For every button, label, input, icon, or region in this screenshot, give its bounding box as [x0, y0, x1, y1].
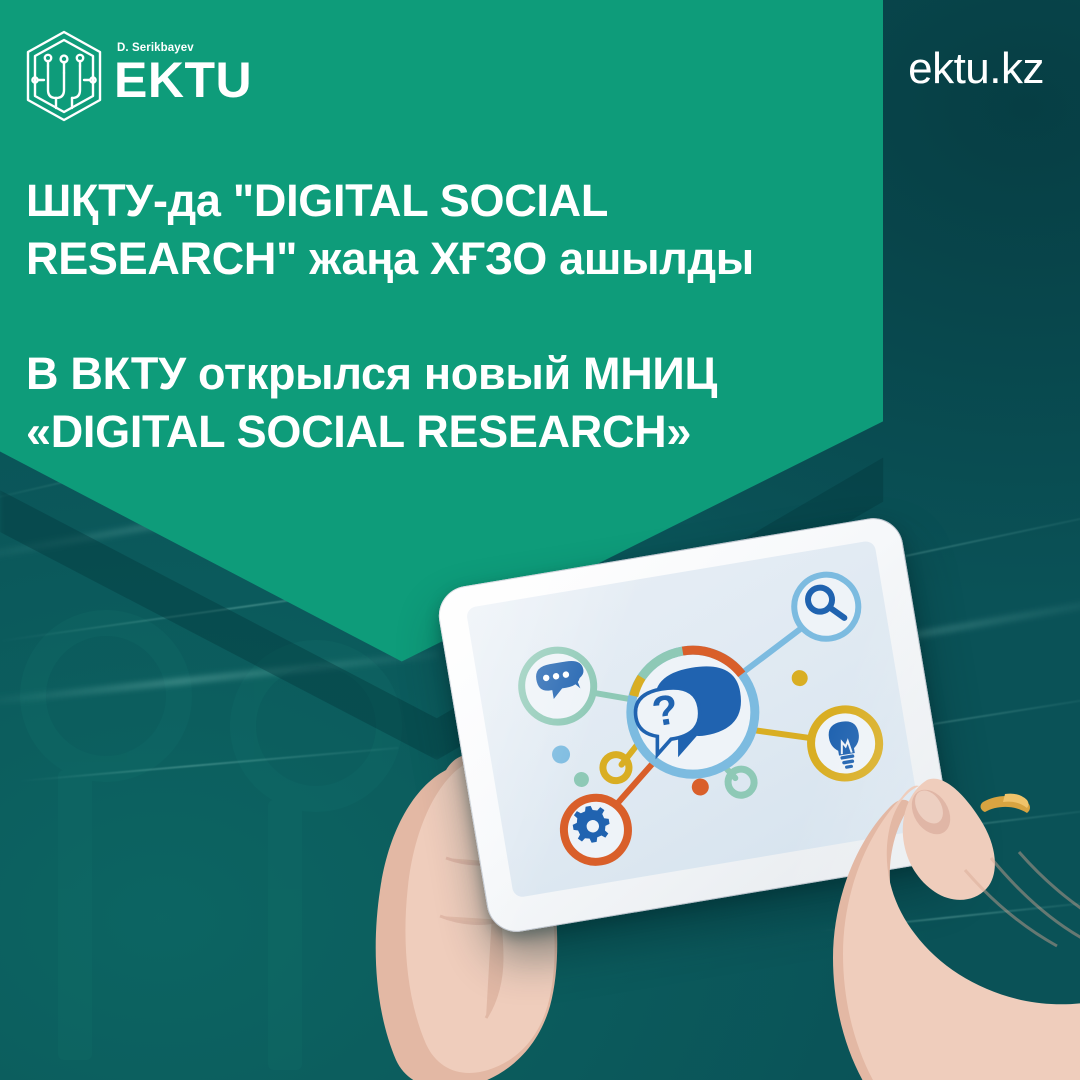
node-settings	[559, 793, 633, 867]
node-center: ?	[621, 641, 764, 784]
gold-ring-icon	[981, 794, 1030, 813]
right-hand	[815, 750, 1080, 1080]
dot-mint-icon	[573, 771, 590, 788]
logo-title: EKTU	[114, 55, 252, 105]
dot-orange-icon	[691, 777, 711, 797]
site-url[interactable]: ektu.kz	[908, 44, 1044, 94]
headline-russian: В ВКТУ открылся новый МНИЦ «DIGITAL SOCI…	[26, 345, 866, 460]
headline-kazakh: ШҚТУ-да "DIGITAL SOCIAL RESEARCH" жаңа Х…	[26, 172, 866, 287]
brand-logo[interactable]: D. Serikbayev EKTU	[22, 28, 252, 124]
node-mint-ring-icon	[726, 767, 756, 797]
dot-yellow-icon	[790, 669, 808, 687]
node-gold-ring-icon	[601, 753, 631, 783]
node-chat	[516, 645, 599, 728]
poster-canvas: D. Serikbayev EKTU ektu.kz ШҚТУ-да "DIGI…	[0, 0, 1080, 1080]
headline-block: ШҚТУ-да "DIGITAL SOCIAL RESEARCH" жаңа Х…	[26, 172, 866, 460]
dot-blue-icon	[551, 744, 572, 765]
ektu-hexagon-circuit-logo-icon	[22, 28, 106, 124]
photo-hands-holding-tablet: ?	[330, 520, 1080, 1080]
